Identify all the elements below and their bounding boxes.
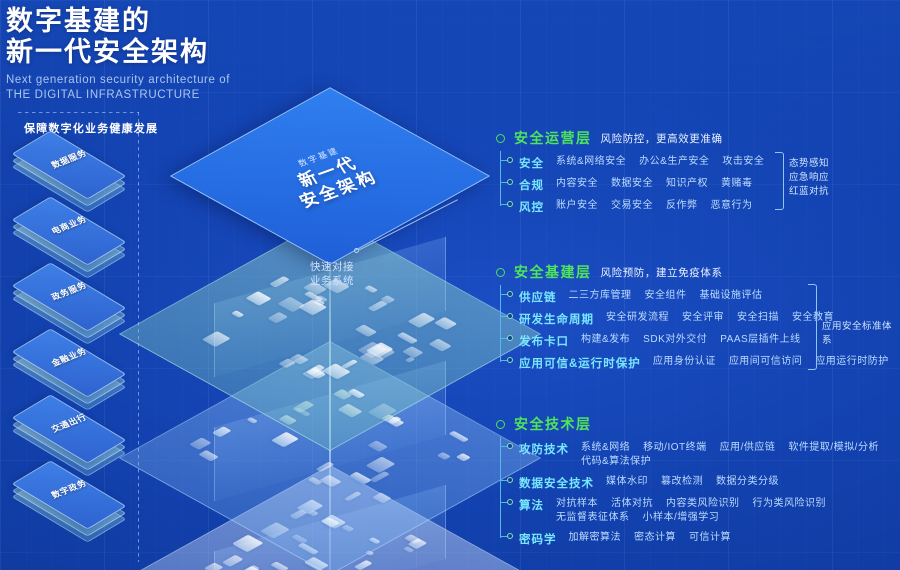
row-label: 发布卡口 [519, 333, 569, 349]
sidebar-item-2[interactable]: 电商业务 [14, 206, 124, 262]
city-block [348, 388, 366, 398]
city-block [267, 312, 288, 324]
row-item[interactable]: 黄赌毒 [721, 177, 753, 191]
city-block [231, 310, 245, 318]
row-bullet-icon [507, 201, 513, 207]
city-block [428, 339, 451, 352]
row-bullet-icon [507, 533, 513, 539]
layer-bracket-label: 态势感知应急响应红蓝对抗 [789, 157, 845, 199]
row-item[interactable]: 安全研发流程 [606, 311, 669, 325]
callout-connect-business: 快速对接 业务系统 [310, 260, 354, 288]
row-bullet-icon [507, 335, 513, 341]
row-item[interactable]: 系统&网络 [581, 441, 630, 455]
layer-node-icon [496, 134, 505, 143]
layer-section-1: 安全运营层风险防控，更高效更准确安全系统&网络安全办公&生产安全攻击安全合规内容… [496, 128, 764, 221]
row-item[interactable]: 内容类风险识别 [666, 497, 740, 511]
city-block [246, 417, 259, 424]
city-block [353, 560, 372, 570]
layer-title: 安全运营层 [514, 128, 592, 148]
row-item[interactable]: 篡改检测 [661, 475, 703, 489]
layer-rows: 安全系统&网络安全办公&生产安全攻击安全合规内容安全数据安全知识产权黄赌毒风控账… [496, 155, 764, 215]
row-items: 媒体水印篡改检测数据分类分级 [606, 475, 779, 489]
layer-row-1[interactable]: 供应链二三方库管理安全组件基础设施评估 [513, 289, 889, 305]
row-item[interactable]: 安全组件 [645, 289, 687, 303]
layer-row-2[interactable]: 合规内容安全数据安全知识产权黄赌毒 [513, 177, 764, 193]
row-item[interactable]: 反作弊 [666, 199, 698, 213]
row-item[interactable]: 小样本/增强学习 [643, 511, 720, 525]
row-bullet-icon [507, 477, 513, 483]
city-block [350, 472, 372, 484]
layer-section-header[interactable]: 安全基建层风险预防，建立免疫体系 [496, 262, 889, 282]
city-block [198, 450, 219, 462]
row-item[interactable]: 构建&发布 [581, 333, 630, 347]
row-item[interactable]: 账户安全 [556, 199, 598, 213]
city-block [341, 359, 358, 368]
sidebar-item-4[interactable]: 金融业务 [14, 338, 124, 394]
row-bullet-icon [507, 157, 513, 163]
title-line-2: 新一代安全架构 [6, 37, 336, 68]
row-item[interactable]: 内容安全 [556, 177, 598, 191]
sidebar-business-stacks: 数据服务电商业务政务服务金融业务交通出行数字政务 [0, 140, 140, 536]
row-item[interactable]: 移动/IOT终端 [643, 441, 706, 455]
row-item[interactable]: 系统&网络安全 [556, 155, 626, 169]
row-items: 系统&网络移动/IOT终端应用/供应链软件提取/模拟/分析代码&算法保护 [581, 441, 900, 469]
row-bullet-icon [507, 499, 513, 505]
row-item[interactable]: 软件提取/模拟/分析 [788, 441, 879, 455]
city-block [318, 474, 341, 487]
layer-row-1[interactable]: 攻防技术系统&网络移动/IOT终端应用/供应链软件提取/模拟/分析代码&算法保护 [513, 441, 900, 469]
row-bullet-icon [507, 291, 513, 297]
layer-row-4[interactable]: 密码学加解密算法密态计算可信计算 [513, 531, 900, 547]
city-block [355, 324, 378, 337]
city-block [277, 297, 306, 313]
sidebar-item-6[interactable]: 数字政务 [14, 470, 124, 526]
layer-section-header[interactable]: 安全技术层 [496, 414, 900, 434]
row-items: 安全研发流程安全评审安全扫描安全教育 [606, 311, 834, 325]
title-line-1: 数字基建的 [6, 6, 336, 37]
city-block [407, 312, 436, 328]
row-item[interactable]: 恶意行为 [711, 199, 753, 213]
row-label: 供应链 [519, 289, 557, 305]
city-block [269, 561, 288, 570]
city-block [189, 437, 212, 450]
row-item[interactable]: 行为类风险识别 [753, 497, 827, 511]
city-block [245, 291, 272, 306]
row-label: 算法 [519, 497, 544, 513]
row-item[interactable]: 数据分类分级 [716, 475, 779, 489]
layer-subtitle: 风险防控，更高效更准确 [601, 131, 723, 146]
row-items: 账户安全交易安全反作弊恶意行为 [556, 199, 753, 213]
divider-horizontal [18, 112, 139, 113]
city-block [321, 517, 340, 528]
city-block [203, 562, 224, 570]
row-label: 攻防技术 [519, 441, 569, 457]
bracket-label-line: 应急响应 [789, 171, 845, 185]
sidebar-item-3[interactable]: 政务服务 [14, 272, 124, 328]
layer-row-3[interactable]: 风控账户安全交易安全反作弊恶意行为 [513, 199, 764, 215]
row-item[interactable]: SDK对外交付 [643, 333, 707, 347]
row-item[interactable]: 基础设施评估 [700, 289, 763, 303]
layer-subtitle: 风险预防，建立免疫体系 [601, 265, 723, 280]
row-item[interactable]: 媒体水印 [606, 475, 648, 489]
city-block [396, 332, 419, 345]
row-items: 内容安全数据安全知识产权黄赌毒 [556, 177, 753, 191]
city-block [232, 535, 264, 553]
row-item[interactable]: 应用运行时防护 [815, 355, 889, 369]
sidebar-item-5[interactable]: 交通出行 [14, 404, 124, 460]
bracket-label-line: 红蓝对抗 [789, 185, 845, 199]
city-block [271, 432, 299, 447]
infographic-canvas: 数字基建的 新一代安全架构 Next generation security a… [0, 0, 900, 570]
row-items: 二三方库管理安全组件基础设施评估 [569, 289, 763, 303]
layer-row-4[interactable]: 应用可信&运行时保护应用身份认证应用间可信访问应用运行时防护 [513, 355, 889, 371]
bracket-label-line: 应用安全标准体系 [822, 320, 894, 348]
row-item[interactable]: 应用间可信访问 [729, 355, 803, 369]
row-label: 研发生命周期 [519, 311, 594, 327]
row-bullet-icon [507, 179, 513, 185]
row-items: 加解密算法密态计算可信计算 [569, 531, 732, 545]
layer-rail [500, 285, 501, 362]
row-item[interactable]: 交易安全 [611, 199, 653, 213]
layer-title: 安全技术层 [514, 414, 592, 434]
row-items: 应用身份认证应用间可信访问应用运行时防护 [653, 355, 889, 369]
row-label: 风控 [519, 199, 544, 215]
row-items: 系统&网络安全办公&生产安全攻击安全 [556, 155, 764, 169]
layer-section-header[interactable]: 安全运营层风险防控，更高效更准确 [496, 128, 764, 148]
city-block [315, 461, 334, 472]
row-items: 对抗样本活体对抗内容类风险识别行为类风险识别无监督表征体系小样本/增强学习 [556, 497, 900, 525]
row-label: 密码学 [519, 531, 557, 547]
row-item[interactable]: 二三方库管理 [569, 289, 632, 303]
isometric-architecture-diagram: 数字基建 新一代 安全架构 快速对接 业务系统 [150, 70, 510, 570]
layer-row-1[interactable]: 安全系统&网络安全办公&生产安全攻击安全 [513, 155, 764, 171]
layer-title: 安全基建层 [514, 262, 592, 282]
layer-row-3[interactable]: 算法对抗样本活体对抗内容类风险识别行为类风险识别无监督表征体系小样本/增强学习 [513, 497, 900, 525]
city-block [402, 346, 424, 358]
row-bullet-icon [507, 357, 513, 363]
row-item[interactable]: 应用/供应链 [720, 441, 776, 455]
row-item[interactable]: 安全评审 [682, 311, 724, 325]
bracket-label-line: 态势感知 [789, 157, 845, 171]
city-block [363, 285, 377, 293]
row-label: 数据安全技术 [519, 475, 594, 491]
row-bullet-icon [507, 443, 513, 449]
row-item[interactable]: 办公&生产安全 [639, 155, 709, 169]
layer-node-icon [496, 268, 505, 277]
city-block [366, 456, 396, 472]
city-block [436, 452, 450, 460]
city-block [222, 554, 244, 566]
row-item[interactable]: 活体对抗 [611, 497, 653, 511]
row-item[interactable]: 无监督表征体系 [556, 511, 630, 525]
row-bullet-icon [507, 313, 513, 319]
row-item[interactable]: 数据安全 [611, 177, 653, 191]
layer-rows: 攻防技术系统&网络移动/IOT终端应用/供应链软件提取/模拟/分析代码&算法保护… [496, 441, 900, 547]
row-item[interactable]: PAAS层插件上线 [720, 333, 800, 347]
layer-bracket-label: 应用安全标准体系 [822, 320, 894, 348]
row-label: 应用可信&运行时保护 [519, 355, 641, 371]
city-block [344, 491, 362, 501]
city-block [367, 440, 388, 452]
city-block [241, 566, 265, 570]
city-block [202, 331, 231, 347]
layer-bracket [775, 152, 784, 210]
row-item[interactable]: 对抗样本 [556, 497, 598, 511]
layer-node-icon [496, 420, 505, 429]
row-label: 合规 [519, 177, 544, 193]
layer-section-3: 安全技术层攻防技术系统&网络移动/IOT终端应用/供应链软件提取/模拟/分析代码… [496, 414, 900, 553]
city-block [448, 431, 469, 442]
city-block [456, 453, 471, 462]
row-item[interactable]: 攻击安全 [722, 155, 764, 169]
callout-line-2: 业务系统 [310, 274, 354, 288]
city-block [211, 426, 232, 437]
city-block [270, 276, 289, 287]
callout-line-1: 快速对接 [310, 260, 354, 274]
layer-bracket [808, 284, 817, 370]
row-label: 安全 [519, 155, 544, 171]
row-item[interactable]: 应用身份认证 [653, 355, 716, 369]
row-item[interactable]: 安全扫描 [737, 311, 779, 325]
layer-rail [500, 437, 501, 538]
row-items: 构建&发布SDK对外交付PAAS层插件上线 [581, 333, 801, 347]
layer-row-2[interactable]: 数据安全技术媒体水印篡改检测数据分类分级 [513, 475, 900, 491]
sidebar-item-1[interactable]: 数据服务 [14, 140, 124, 196]
row-item[interactable]: 知识产权 [666, 177, 708, 191]
row-item[interactable]: 密态计算 [634, 531, 676, 545]
row-item[interactable]: 加解密算法 [569, 531, 622, 545]
row-item[interactable]: 代码&算法保护 [581, 455, 651, 469]
city-block [433, 317, 457, 331]
city-block [372, 492, 392, 503]
row-item[interactable]: 可信计算 [689, 531, 731, 545]
city-block [370, 471, 390, 482]
